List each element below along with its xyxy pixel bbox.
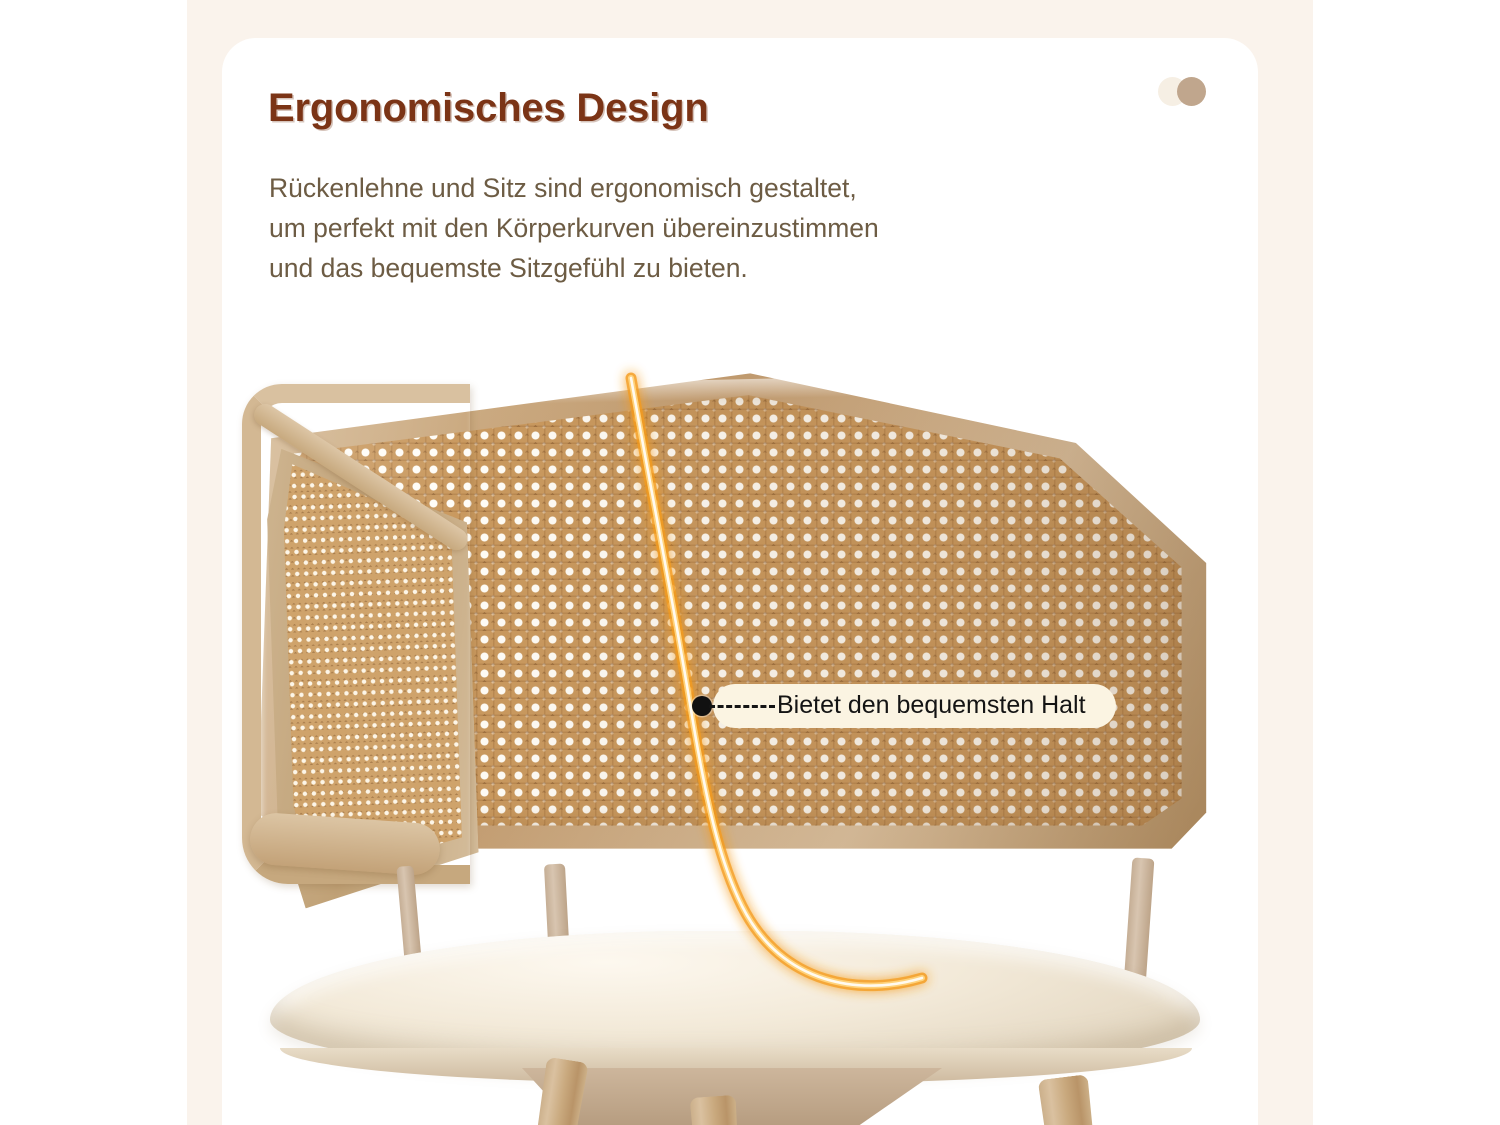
description-text: Rückenlehne und Sitz sind ergonomisch ge… <box>269 168 1099 288</box>
chair-illustration: Bietet den bequemsten Halt <box>222 306 1258 1125</box>
curve-glow-core <box>631 378 922 986</box>
content-card: Ergonomisches Design Rückenlehne und Sit… <box>222 38 1258 1125</box>
description-line-2: um perfekt mit den Körperkurven übereinz… <box>269 208 1099 248</box>
callout-leader-line <box>709 705 775 708</box>
page-title: Ergonomisches Design <box>268 86 709 131</box>
description-line-3: und das bequemste Sitzgefühl zu bieten. <box>269 248 1099 288</box>
feature-callout[interactable]: Bietet den bequemsten Halt <box>692 684 1116 728</box>
description-line-1: Rückenlehne und Sitz sind ergonomisch ge… <box>269 168 1099 208</box>
curve-glow-outer <box>631 378 922 986</box>
page-root: Ergonomisches Design Rückenlehne und Sit… <box>0 0 1500 1125</box>
decorative-dots <box>1158 77 1230 107</box>
product-image: Bietet den bequemsten Halt <box>222 306 1258 1125</box>
decor-dot-dark-icon <box>1177 77 1206 106</box>
curve-glow-mid <box>631 378 922 986</box>
